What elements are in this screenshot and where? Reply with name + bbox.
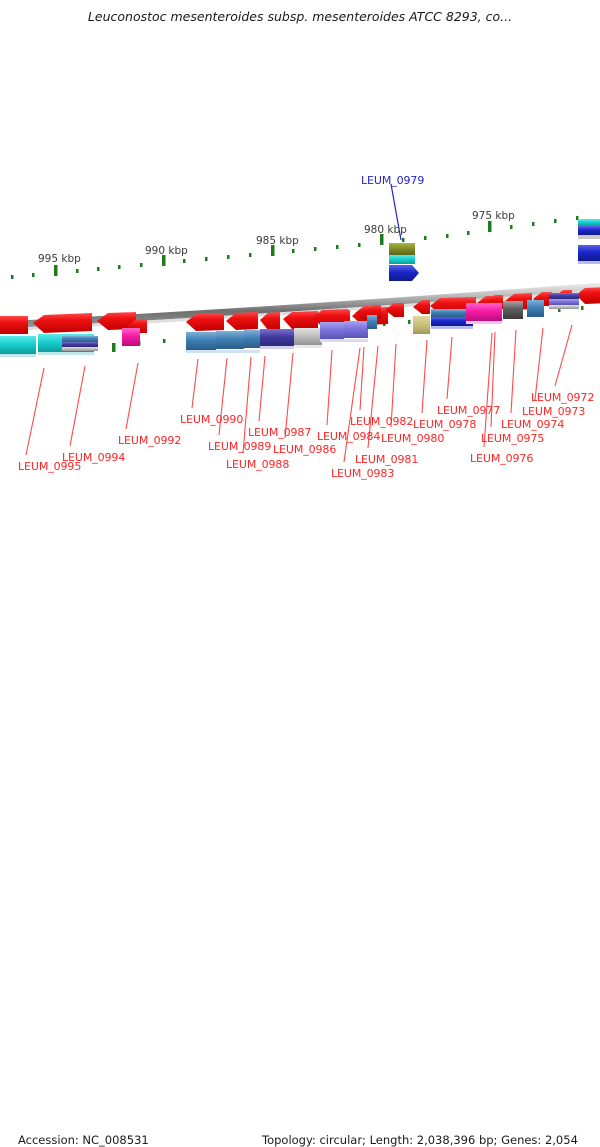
gene-label[interactable]: LEUM_0975 [481,432,544,445]
gene-label[interactable]: LEUM_0989 [208,440,271,453]
gene-leader-line [535,328,543,400]
ruler-tick-label: 990 kbp [145,245,188,257]
selected-gene-label[interactable]: LEUM_0979 [361,174,424,187]
gene-label[interactable]: LEUM_0980 [381,432,444,445]
gene-label[interactable]: LEUM_0972 [531,391,594,404]
status-bar: Accession: NC_008531 Topology: circular;… [0,560,600,600]
gene-label[interactable]: LEUM_0986 [273,443,336,456]
sequence-summary-text: Topology: circular; Length: 2,038,396 bp… [262,1133,578,1147]
gene-leader-line [327,350,332,425]
gene-label[interactable]: LEUM_0974 [501,418,564,431]
ruler-tick-label: 985 kbp [256,235,299,247]
gene-label[interactable]: LEUM_0981 [355,453,418,466]
gene-leader-line [555,325,572,386]
gene-label[interactable]: LEUM_0992 [118,434,181,447]
gene-leader-line [126,363,138,429]
gene-label[interactable]: LEUM_0978 [413,418,476,431]
page-title: Leuconostoc mesenteroides subsp. mesente… [0,9,600,24]
gene-label[interactable]: LEUM_0990 [180,413,243,426]
gene-leader-line [511,330,516,413]
gene-label[interactable]: LEUM_0977 [437,404,500,417]
gene-leader-line [484,333,492,447]
gene-leader-line [70,366,85,446]
gene-label[interactable]: LEUM_0987 [248,426,311,439]
genome-browser-window: Leuconostoc mesenteroides subsp. mesente… [0,0,600,600]
genome-map-svg[interactable] [0,34,600,560]
ruler-tick-label: 975 kbp [472,210,515,222]
title-bar: Leuconostoc mesenteroides subsp. mesente… [0,0,600,34]
ruler-tick-marks-upper [11,216,579,279]
ruler-tick-label: 995 kbp [38,253,81,265]
reverse-strand-feature-bars[interactable] [0,219,600,357]
gene-label[interactable]: LEUM_0973 [522,405,585,418]
accession-text: Accession: NC_008531 [18,1133,149,1147]
gene-leader-line [447,337,452,399]
gene-label[interactable]: LEUM_0982 [350,415,413,428]
gene-label[interactable]: LEUM_0994 [62,451,125,464]
gene-label[interactable]: LEUM_0988 [226,458,289,471]
ruler-tick-label: 980 kbp [364,224,407,236]
gene-leader-line [259,356,265,421]
gene-leader-line [344,348,360,462]
gene-label[interactable]: LEUM_0984 [317,430,380,443]
gene-leader-line [26,368,44,455]
gene-leader-line [360,347,364,410]
selected-feature-glyph[interactable] [389,243,419,281]
gene-label[interactable]: LEUM_0976 [470,452,533,465]
sequence-viewer-canvas[interactable]: 995 kbp990 kbp985 kbp980 kbp975 kbp LEUM… [0,34,600,560]
gene-label[interactable]: LEUM_0983 [331,467,394,480]
gene-leader-line [192,359,198,408]
gene-leader-line [422,340,427,413]
